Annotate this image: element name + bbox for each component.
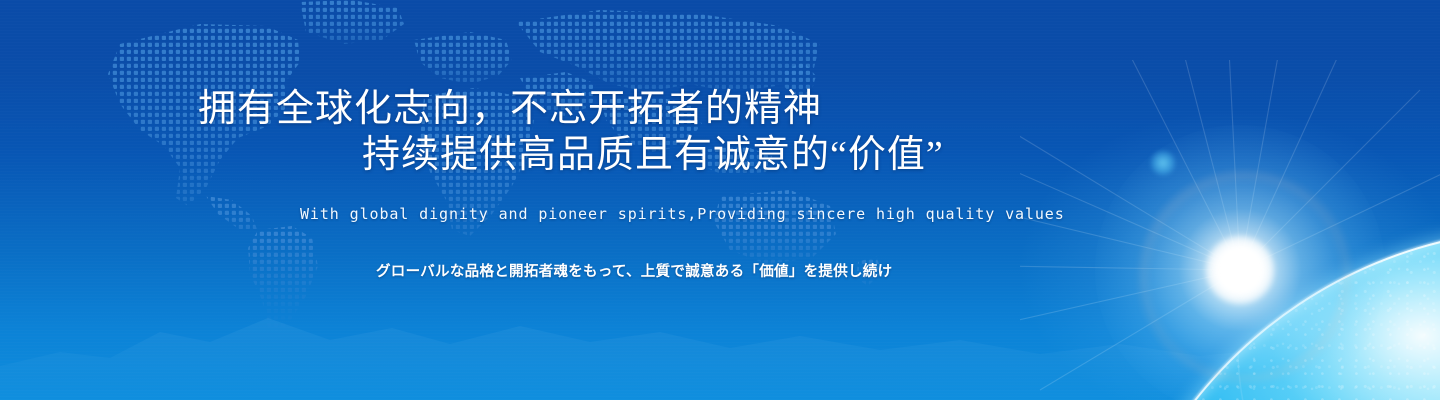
sun-flare-rays <box>1020 60 1440 400</box>
planet-arc-highlights <box>1098 228 1440 400</box>
planet-earth-limb <box>980 0 1440 400</box>
hero-banner: 拥有全球化志向，不忘开拓者的精神 持续提供高品质且有诚意的“价值” With g… <box>0 0 1440 400</box>
headline-line-1: 拥有全球化志向，不忘开拓者的精神 <box>198 90 822 128</box>
subtitle-english: With global dignity and pioneer spirits,… <box>300 205 1065 223</box>
subtitle-japanese: グローバルな品格と開拓者魂をもって、上質で誠意ある「価値」を提供し続け <box>376 260 892 281</box>
planet-limb-rim <box>1098 228 1440 400</box>
headline-line-2: 持续提供高品质且有诚意的“价值” <box>362 136 944 174</box>
planet-body <box>1098 228 1440 400</box>
lens-flare-orb <box>1150 150 1176 176</box>
planet-surface-texture <box>1098 228 1440 400</box>
sun-flare-halo-ring <box>1140 172 1350 382</box>
